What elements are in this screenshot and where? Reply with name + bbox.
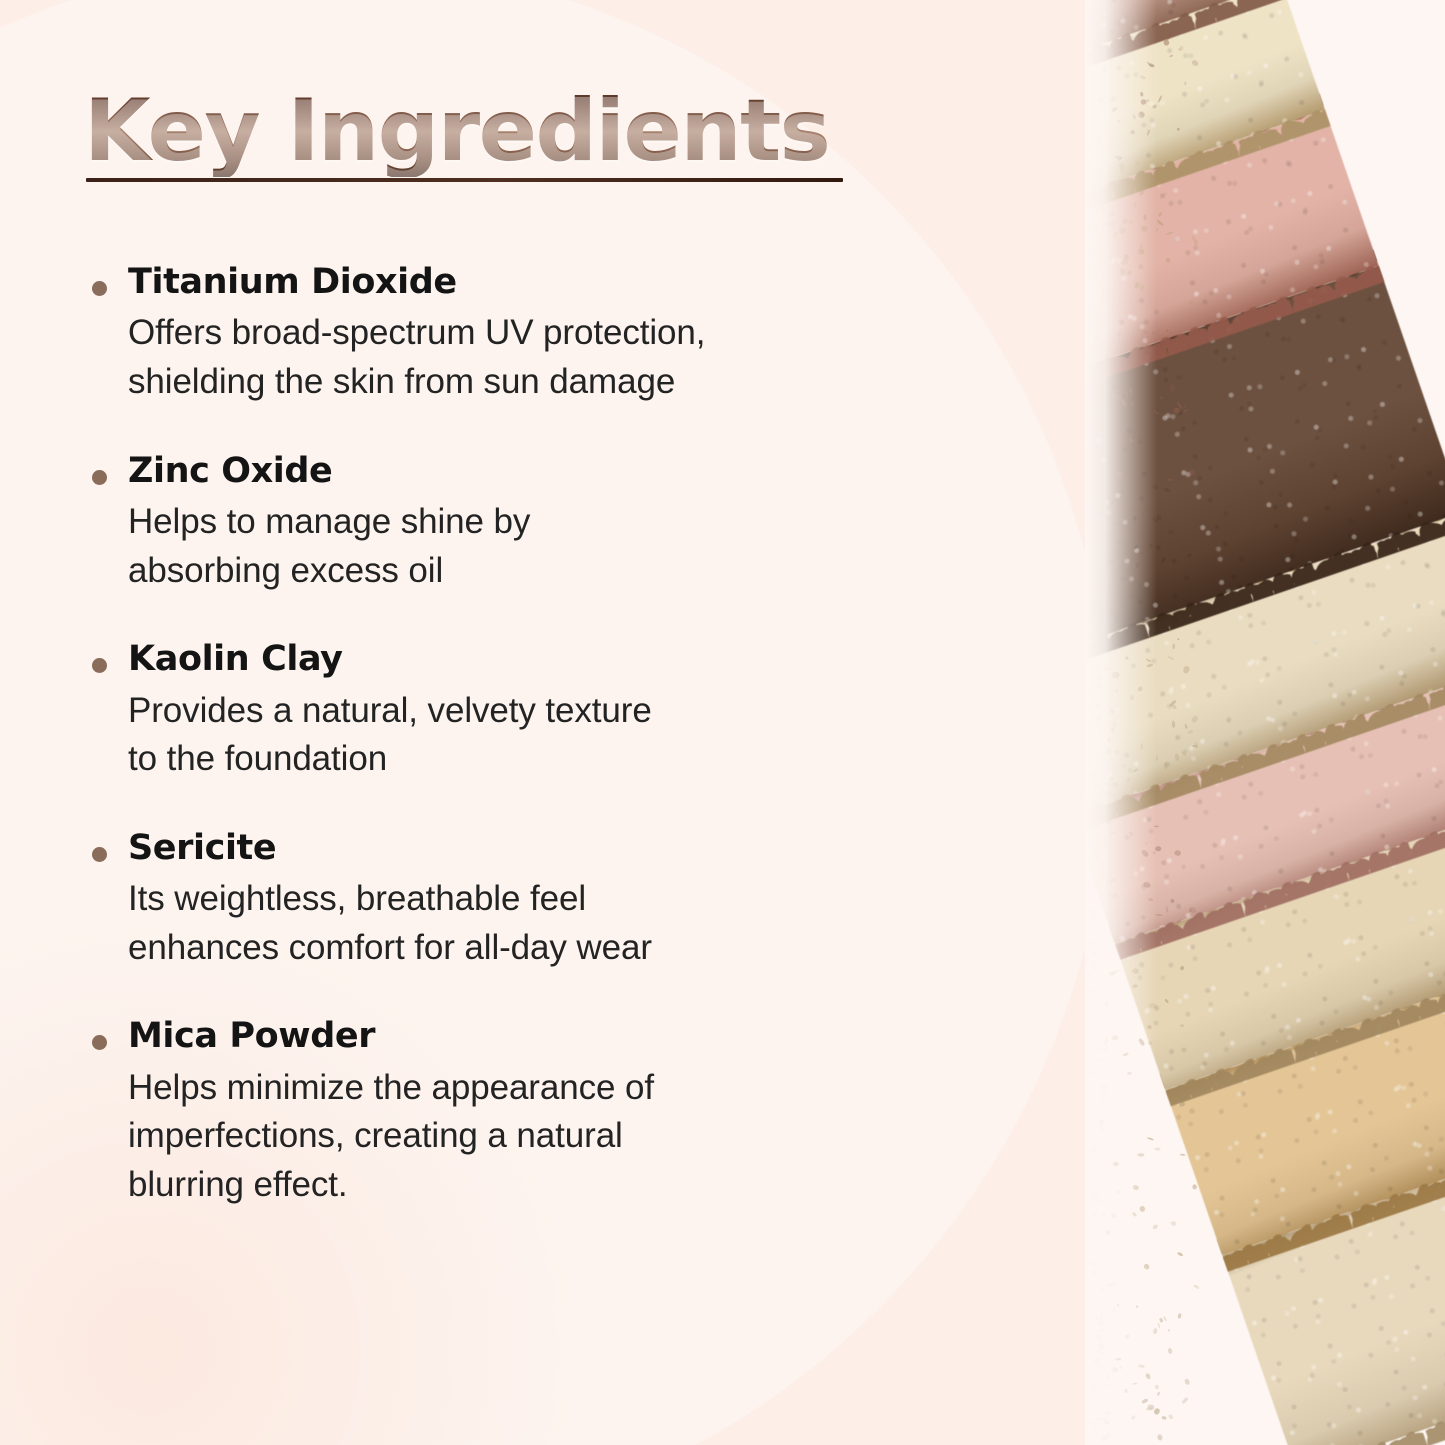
bullet-dot-icon bbox=[92, 658, 107, 673]
ingredient-description: Helps to manage shine by absorbing exces… bbox=[128, 498, 984, 595]
title-underline bbox=[86, 178, 843, 182]
poster-canvas: Key Ingredients Titanium Dioxide Offers … bbox=[0, 0, 1445, 1445]
title-block: Key Ingredients bbox=[84, 86, 844, 177]
ingredient-description: Provides a natural, velvety texture to t… bbox=[128, 687, 984, 784]
powder-band-stack bbox=[1085, 0, 1445, 1445]
list-item: Sericite Its weightless, breathable feel… bbox=[84, 828, 984, 973]
bullet-dot-icon bbox=[92, 847, 107, 862]
bullet-dot-icon bbox=[92, 281, 107, 296]
ingredient-list: Titanium Dioxide Offers broad-spectrum U… bbox=[84, 262, 984, 1210]
ingredient-description: Offers broad-spectrum UV protection, shi… bbox=[128, 309, 984, 406]
ingredient-name: Sericite bbox=[128, 828, 984, 869]
powder-swatch-image bbox=[1085, 0, 1445, 1445]
ingredient-name: Mica Powder bbox=[128, 1016, 984, 1057]
content-column: Key Ingredients Titanium Dioxide Offers … bbox=[84, 86, 984, 1210]
ingredient-name: Zinc Oxide bbox=[128, 451, 984, 492]
ingredient-description: Its weightless, breathable feel enhances… bbox=[128, 875, 984, 972]
bullet-dot-icon bbox=[92, 470, 107, 485]
ingredient-description: Helps minimize the appearance of imperfe… bbox=[128, 1064, 984, 1210]
list-item: Zinc Oxide Helps to manage shine by abso… bbox=[84, 451, 984, 596]
bullet-dot-icon bbox=[92, 1035, 107, 1050]
list-item: Mica Powder Helps minimize the appearanc… bbox=[84, 1016, 984, 1209]
list-item: Kaolin Clay Provides a natural, velvety … bbox=[84, 639, 984, 784]
ingredient-name: Kaolin Clay bbox=[128, 639, 984, 680]
ingredient-name: Titanium Dioxide bbox=[128, 262, 984, 303]
list-item: Titanium Dioxide Offers broad-spectrum U… bbox=[84, 262, 984, 407]
page-title: Key Ingredients bbox=[84, 86, 829, 177]
